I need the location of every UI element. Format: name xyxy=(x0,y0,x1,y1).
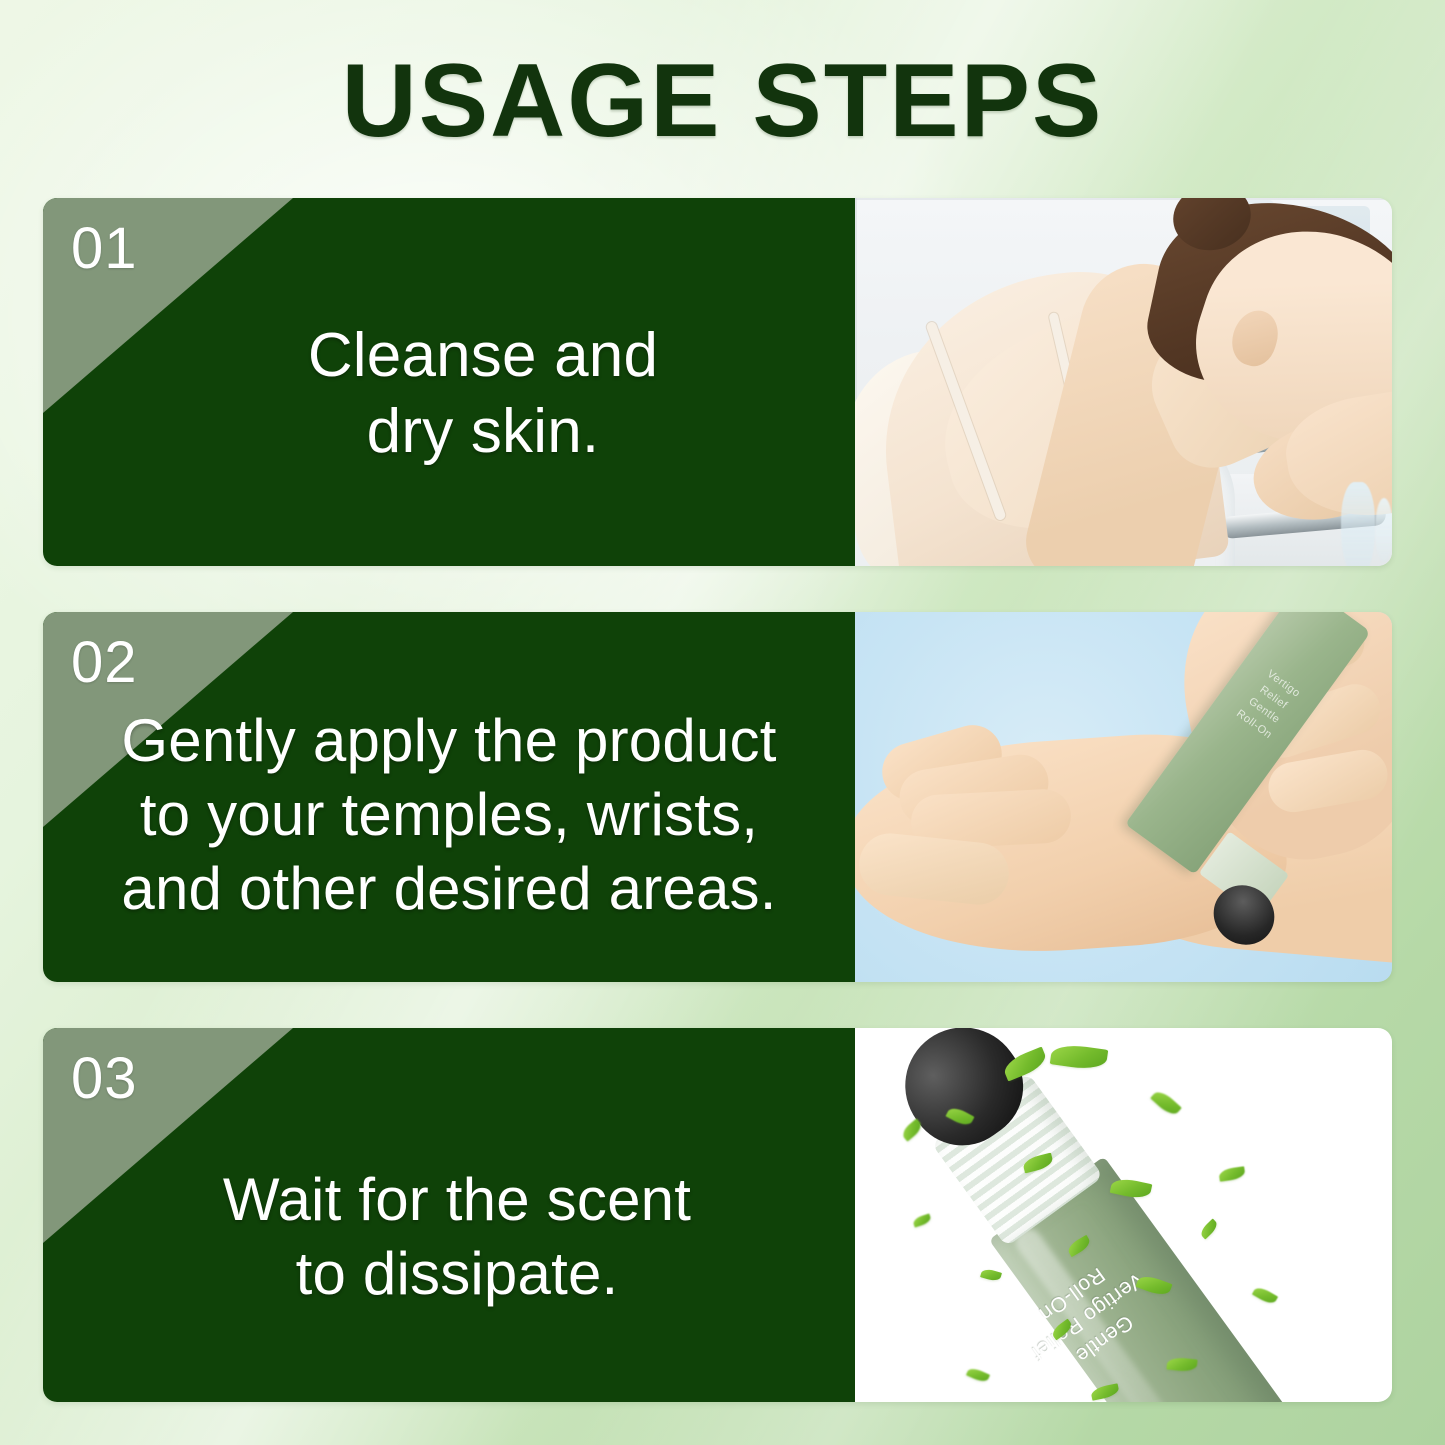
leaf-icon xyxy=(912,1213,932,1227)
step-2-photo: Vertigo Relief Gentle Roll-On xyxy=(855,612,1392,982)
step-3-number: 03 xyxy=(71,1050,138,1108)
water-droplets-icon xyxy=(1375,498,1392,562)
leaf-icon xyxy=(1150,1088,1182,1118)
step-3-text-panel: 03 Wait for the scent to dissipate. xyxy=(43,1028,855,1402)
leaf-icon xyxy=(1218,1166,1245,1182)
leaf-icon xyxy=(1198,1218,1219,1239)
step-3-line-1: Wait for the scent xyxy=(223,1166,691,1233)
step-1-instruction: Cleanse and dry skin. xyxy=(274,318,692,471)
step-2-instruction: Gently apply the product to your temples… xyxy=(87,704,810,925)
step-2-number: 02 xyxy=(71,634,138,692)
step-2-line-3: and other desired areas. xyxy=(121,855,776,922)
step-3-instruction: Wait for the scent to dissipate. xyxy=(189,1163,725,1311)
product-bottle-scene: Gentle Vertigo Relief Roll-On 0.34Fl xyxy=(855,1028,1392,1402)
step-1-photo xyxy=(855,198,1392,566)
step-1-corner-badge: 01 xyxy=(43,198,293,413)
step-3-photo: Gentle Vertigo Relief Roll-On 0.34Fl xyxy=(855,1028,1392,1402)
leaf-icon xyxy=(1252,1285,1278,1307)
step-3-line-2: to dissipate. xyxy=(296,1240,619,1307)
step-2-text-panel: 02 Gently apply the product to your temp… xyxy=(43,612,855,982)
step-card-3: 03 Wait for the scent to dissipate. Gent… xyxy=(43,1028,1392,1402)
corner-triangle-shape xyxy=(43,198,293,413)
usage-steps-poster: USAGE STEPS 01 Cleanse and dry skin. xyxy=(0,0,1445,1445)
step-2-line-1: Gently apply the product xyxy=(121,707,776,774)
step-card-1: 01 Cleanse and dry skin. xyxy=(43,198,1392,566)
step-1-text-panel: 01 Cleanse and dry skin. xyxy=(43,198,855,566)
page-title: USAGE STEPS xyxy=(0,48,1445,154)
step-1-line-2: dry skin. xyxy=(367,397,600,466)
step-1-line-1: Cleanse and xyxy=(308,321,658,390)
water-stream-icon xyxy=(1341,482,1375,566)
step-2-line-2: to your temples, wrists, xyxy=(140,781,758,848)
step-card-2: 02 Gently apply the product to your temp… xyxy=(43,612,1392,982)
bathroom-scene xyxy=(855,198,1392,566)
leaf-icon xyxy=(966,1366,990,1384)
hand-application-scene: Vertigo Relief Gentle Roll-On xyxy=(855,612,1392,982)
step-1-number: 01 xyxy=(71,220,138,278)
